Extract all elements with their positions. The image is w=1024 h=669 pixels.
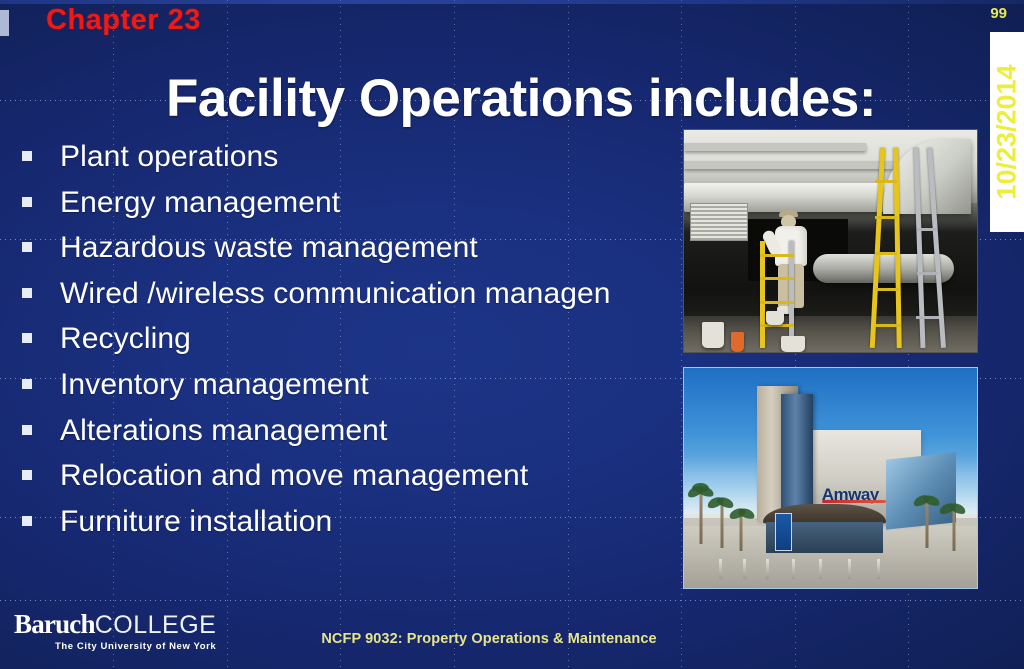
footer-course-text: NCFP 9032: Property Operations & Mainten… (0, 631, 1024, 647)
bullet-square-icon (22, 242, 32, 252)
bullet-square-icon (22, 197, 32, 207)
bullet-square-icon (22, 151, 32, 161)
list-item-label: Relocation and move management (60, 459, 528, 493)
list-item: Wired /wireless communication managen (22, 277, 722, 323)
slide-number: 99 (990, 5, 1007, 22)
list-item: Inventory management (22, 368, 722, 414)
list-item: Recycling (22, 322, 722, 368)
list-item: Alterations management (22, 414, 722, 460)
page-title: Facility Operations includes: (0, 68, 1024, 129)
list-item: Relocation and move management (22, 459, 722, 505)
date-placeholder: 10/23/2014 (990, 32, 1024, 232)
list-item-label: Energy management (60, 186, 340, 220)
bullet-square-icon (22, 425, 32, 435)
date-text: 10/23/2014 (992, 64, 1023, 199)
amway-center-arena-photo: Amway (683, 367, 978, 589)
list-item: Furniture installation (22, 505, 722, 551)
list-item: Energy management (22, 186, 722, 232)
bullet-square-icon (22, 379, 32, 389)
bullet-list: Plant operations Energy management Hazar… (22, 140, 722, 550)
list-item-label: Recycling (60, 322, 191, 356)
bullet-square-icon (22, 333, 32, 343)
list-item: Hazardous waste management (22, 231, 722, 277)
list-item-label: Wired /wireless communication managen (60, 277, 611, 311)
chapter-label: Chapter 23 (46, 4, 201, 37)
hvac-duct-maintenance-photo (683, 129, 978, 353)
list-item: Plant operations (22, 140, 722, 186)
list-item-label: Plant operations (60, 140, 278, 174)
bullet-square-icon (22, 470, 32, 480)
list-item-label: Hazardous waste management (60, 231, 478, 265)
placeholder-handle[interactable] (0, 10, 9, 36)
list-item-label: Furniture installation (60, 505, 332, 539)
presentation-slide: Chapter 23 Facility Operations includes:… (0, 0, 1024, 669)
list-item-label: Inventory management (60, 368, 369, 402)
bullet-square-icon (22, 516, 32, 526)
list-item-label: Alterations management (60, 414, 387, 448)
bullet-square-icon (22, 288, 32, 298)
